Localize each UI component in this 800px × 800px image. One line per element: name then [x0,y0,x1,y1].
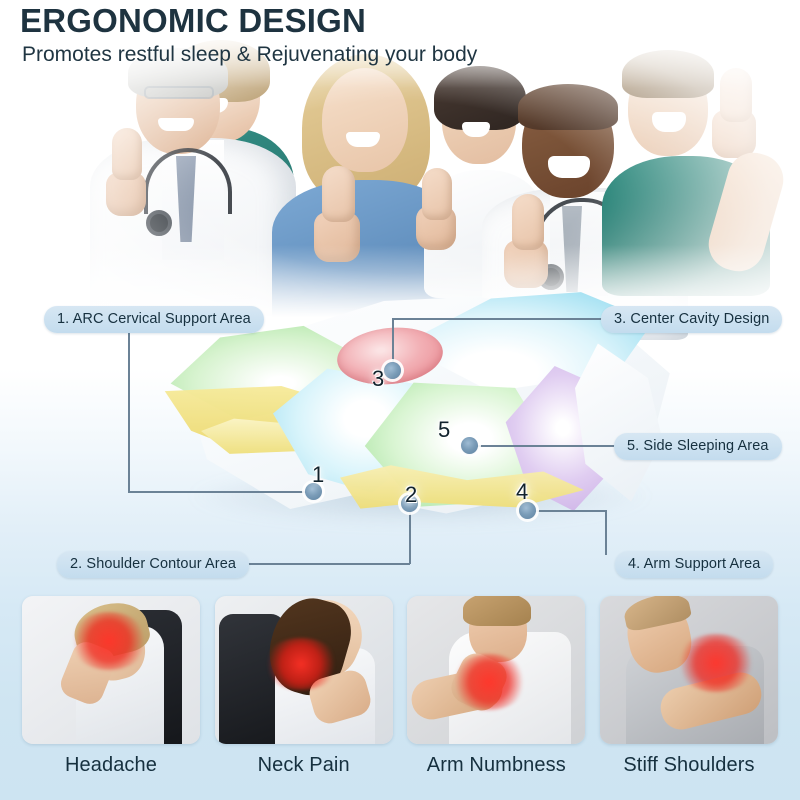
callout-number-3: 3 [372,366,384,392]
pain-indicator [676,634,756,692]
callout-label-3[interactable]: 3. Center Cavity Design [601,306,782,333]
symptom-card-stiff-shoulders[interactable]: Stiff Shoulders [600,596,778,800]
leader-line-4-horizontal [527,510,607,512]
page-subtitle: Promotes restful sleep & Rejuvenating yo… [0,39,800,67]
pain-indicator [70,612,148,670]
callout-dot-3[interactable] [384,362,401,379]
callout-number-5: 5 [438,417,450,443]
callout-number-1: 1 [312,462,324,488]
callout-label-4[interactable]: 4. Arm Support Area [615,551,773,578]
leader-line-1-horizontal [128,491,313,493]
symptom-label-arm-numbness: Arm Numbness [407,744,585,777]
man-stiff-shoulders-photo [600,596,778,744]
symptom-cards: Headache Neck Pain Arm Numbness [0,596,800,800]
woman-headache-photo [22,596,200,744]
leader-line-1-vertical [128,330,130,492]
pain-indicator [451,654,527,710]
symptom-card-arm-numbness[interactable]: Arm Numbness [407,596,585,800]
page-title: ERGONOMIC DESIGN [0,0,800,39]
symptom-card-headache[interactable]: Headache [22,596,200,800]
callout-number-2: 2 [405,482,417,508]
leader-line-2-vertical [409,503,411,564]
callout-label-2[interactable]: 2. Shoulder Contour Area [57,551,249,578]
leader-line-2-horizontal [230,563,410,565]
leader-line-5-horizontal [470,445,616,447]
pain-indicator [263,638,339,690]
symptom-label-neck-pain: Neck Pain [215,744,393,777]
leader-line-4-vertical [605,510,607,555]
woman-neck-pain-photo [215,596,393,744]
callout-label-1[interactable]: 1. ARC Cervical Support Area [44,306,264,333]
man-arm-numbness-photo [407,596,585,744]
header: ERGONOMIC DESIGN Promotes restful sleep … [0,0,800,67]
symptom-label-headache: Headache [22,744,200,777]
doctors-thumbs-up-photo [0,36,800,326]
callout-number-4: 4 [516,479,528,505]
callout-dot-5[interactable] [461,437,478,454]
symptom-card-neck-pain[interactable]: Neck Pain [215,596,393,800]
photo-fade-overlay [0,36,800,326]
symptom-label-stiff-shoulders: Stiff Shoulders [600,744,778,777]
callout-label-5[interactable]: 5. Side Sleeping Area [614,433,782,460]
leader-line-3-horizontal [392,318,602,320]
